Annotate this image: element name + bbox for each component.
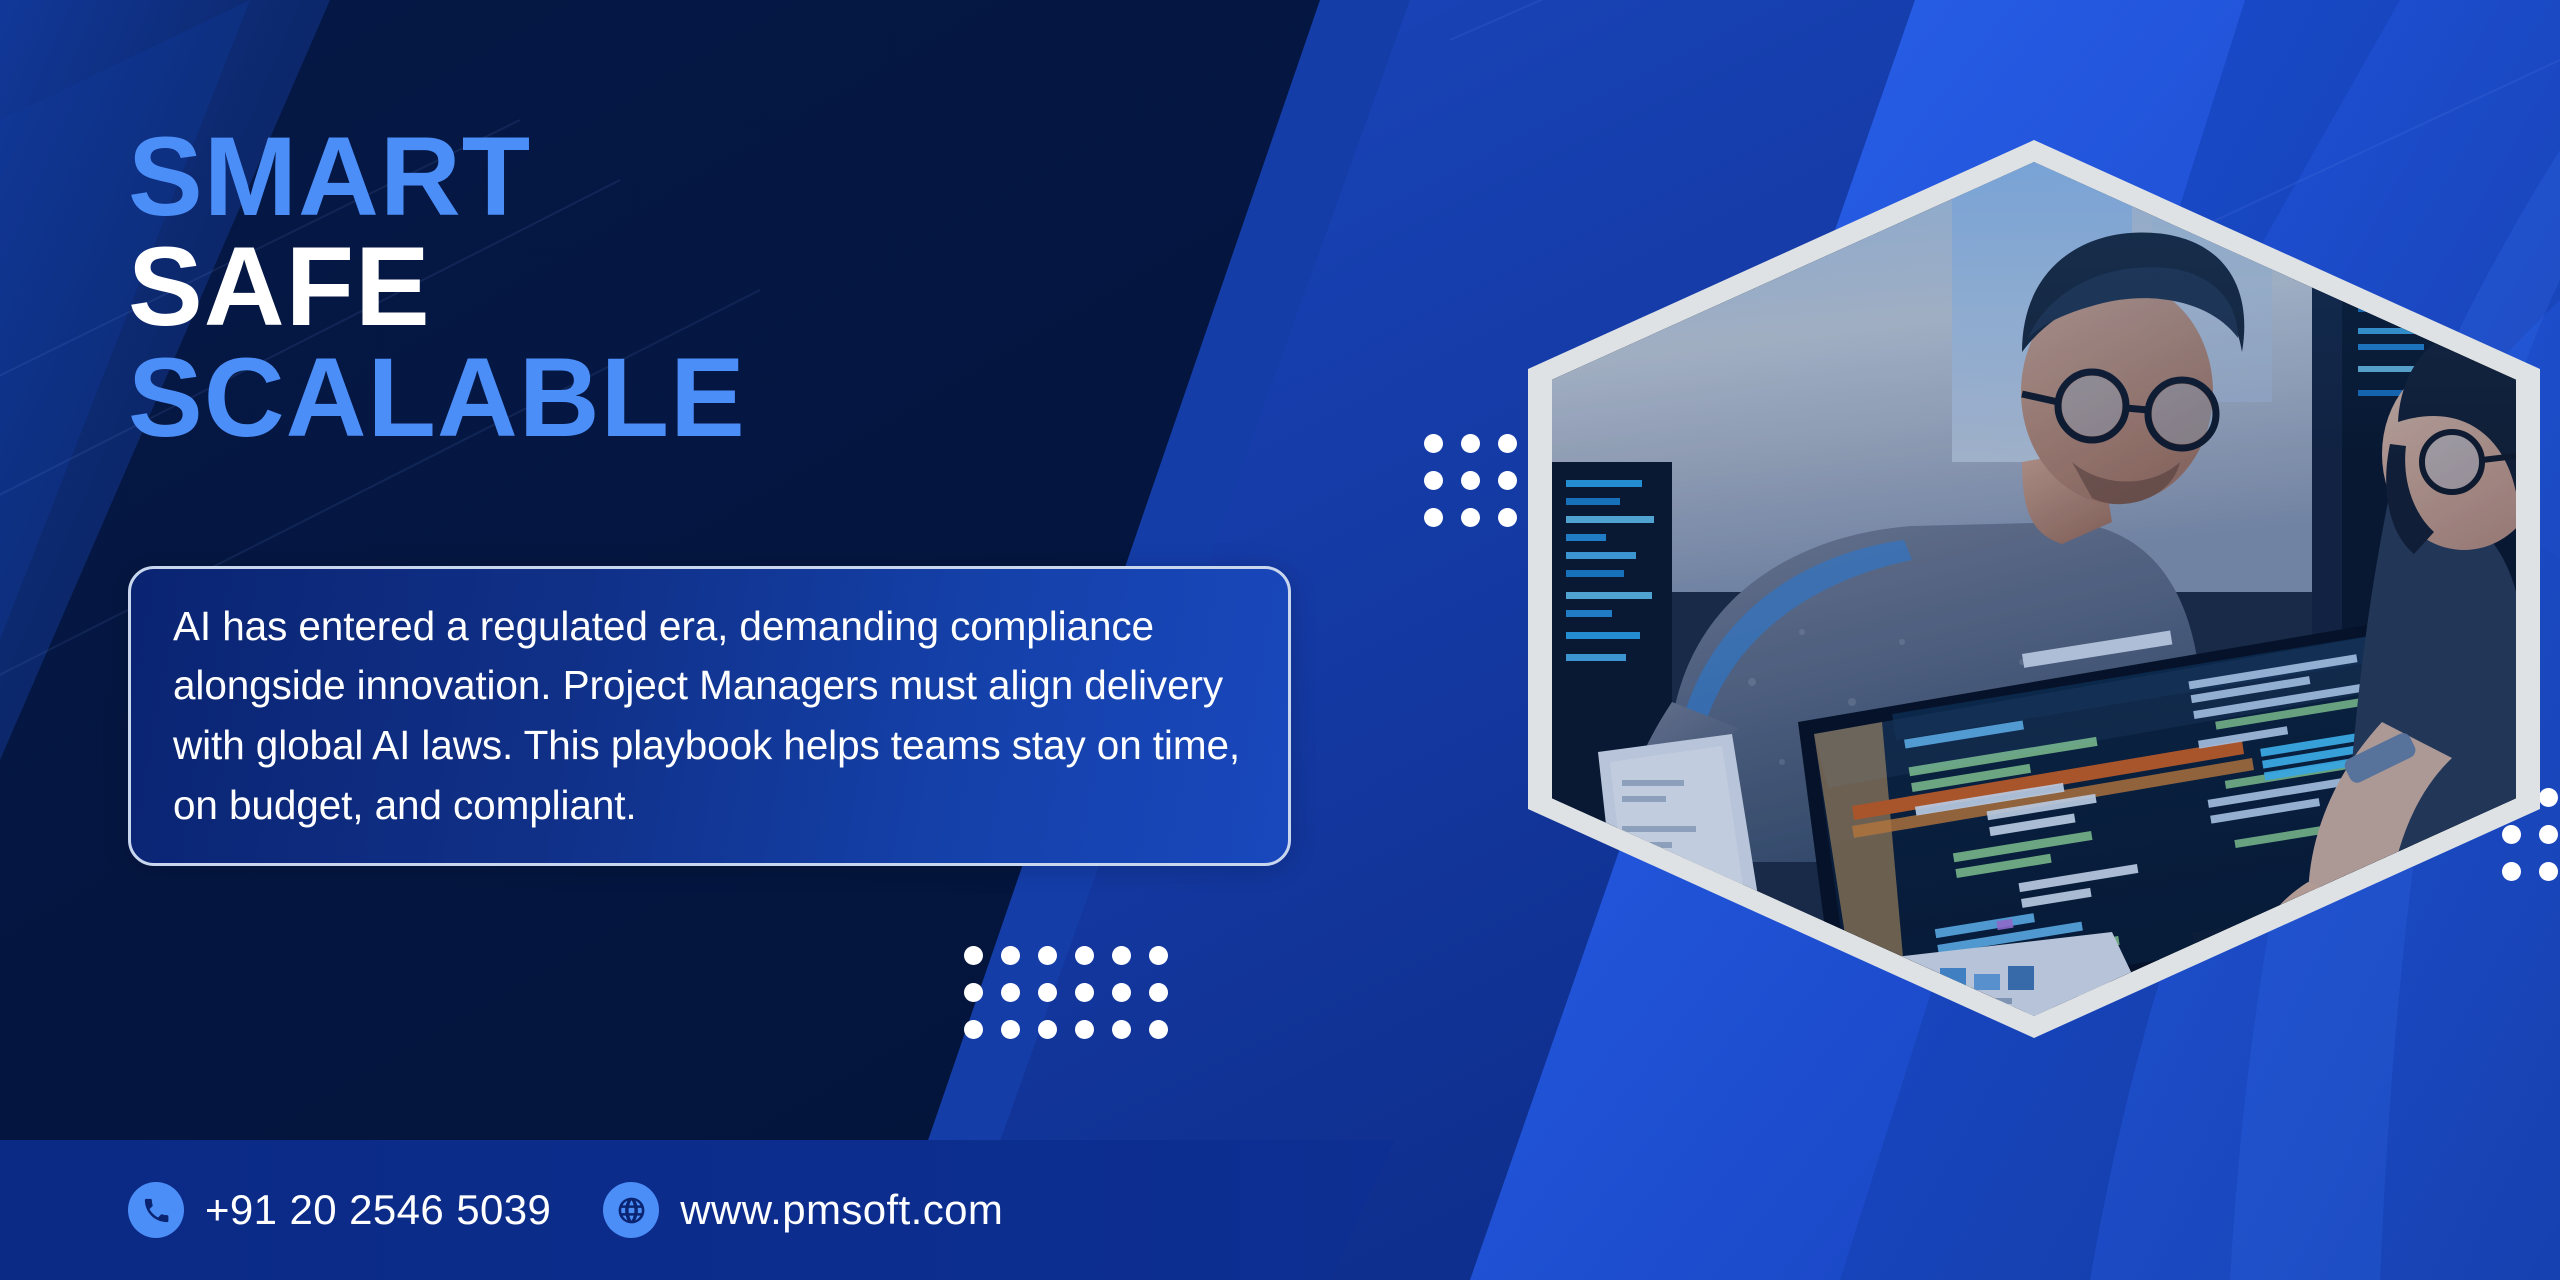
phone-contact[interactable]: +91 20 2546 5039 (128, 1182, 551, 1238)
headline-block: SMART SAFE SCALABLE (128, 122, 746, 453)
description-text: AI has entered a regulated era, demandin… (131, 597, 1288, 835)
phone-number: +91 20 2546 5039 (205, 1186, 551, 1234)
website-contact[interactable]: www.pmsoft.com (603, 1182, 1003, 1238)
description-card: AI has entered a regulated era, demandin… (128, 566, 1291, 866)
phone-icon (128, 1182, 184, 1238)
headline-line-smart: SMART (128, 122, 746, 232)
photo-illustration (1552, 162, 2516, 1016)
headline-line-scalable: SCALABLE (128, 343, 746, 453)
contact-footer: +91 20 2546 5039 www.pmsoft.com (0, 1140, 1390, 1280)
team-coding-photo (1552, 162, 2516, 1016)
globe-icon (603, 1182, 659, 1238)
dot-grid-bottom (964, 946, 1168, 1039)
website-url: www.pmsoft.com (680, 1186, 1003, 1234)
headline-line-safe: SAFE (128, 232, 746, 342)
hexagon-photo-clip (1552, 162, 2516, 1016)
banner-canvas: SMART SAFE SCALABLE AI has entered a reg… (0, 0, 2560, 1280)
hexagon-photo-frame (1528, 140, 2540, 1038)
